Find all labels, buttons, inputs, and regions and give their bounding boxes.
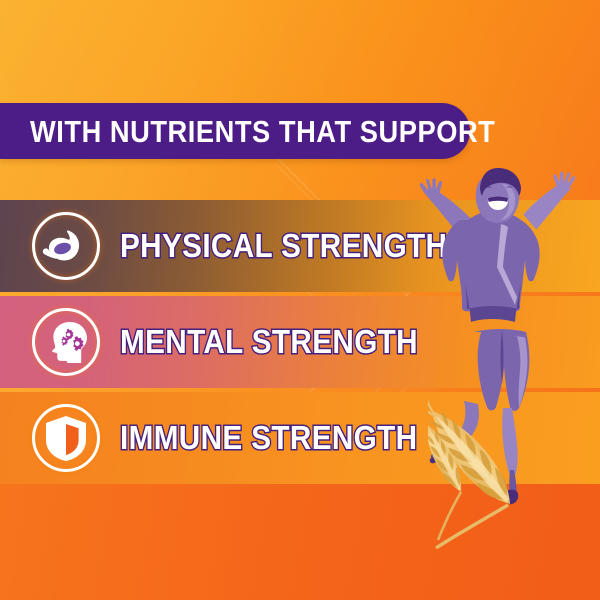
benefit-label-immune: IMMUNE STRENGTH — [120, 419, 417, 457]
head-with-gears-icon — [40, 316, 92, 368]
flexed-bicep-icon — [40, 220, 92, 272]
benefit-icon-mental — [32, 308, 100, 376]
benefit-icon-immune — [32, 404, 100, 472]
headline-text: WITH NUTRIENTS THAT SUPPORT — [30, 116, 495, 147]
benefit-label-physical: PHYSICAL STRENGTH — [120, 227, 447, 265]
benefit-label-mental: MENTAL STRENGTH — [120, 323, 418, 361]
shield-icon — [40, 412, 92, 464]
poster-canvas: WITH NUTRIENTS THAT SUPPORT PHYSICAL STR… — [0, 0, 600, 600]
headline-banner: WITH NUTRIENTS THAT SUPPORT — [0, 103, 470, 159]
wheat-stalks-illustration — [428, 388, 600, 558]
benefit-icon-physical — [32, 212, 100, 280]
